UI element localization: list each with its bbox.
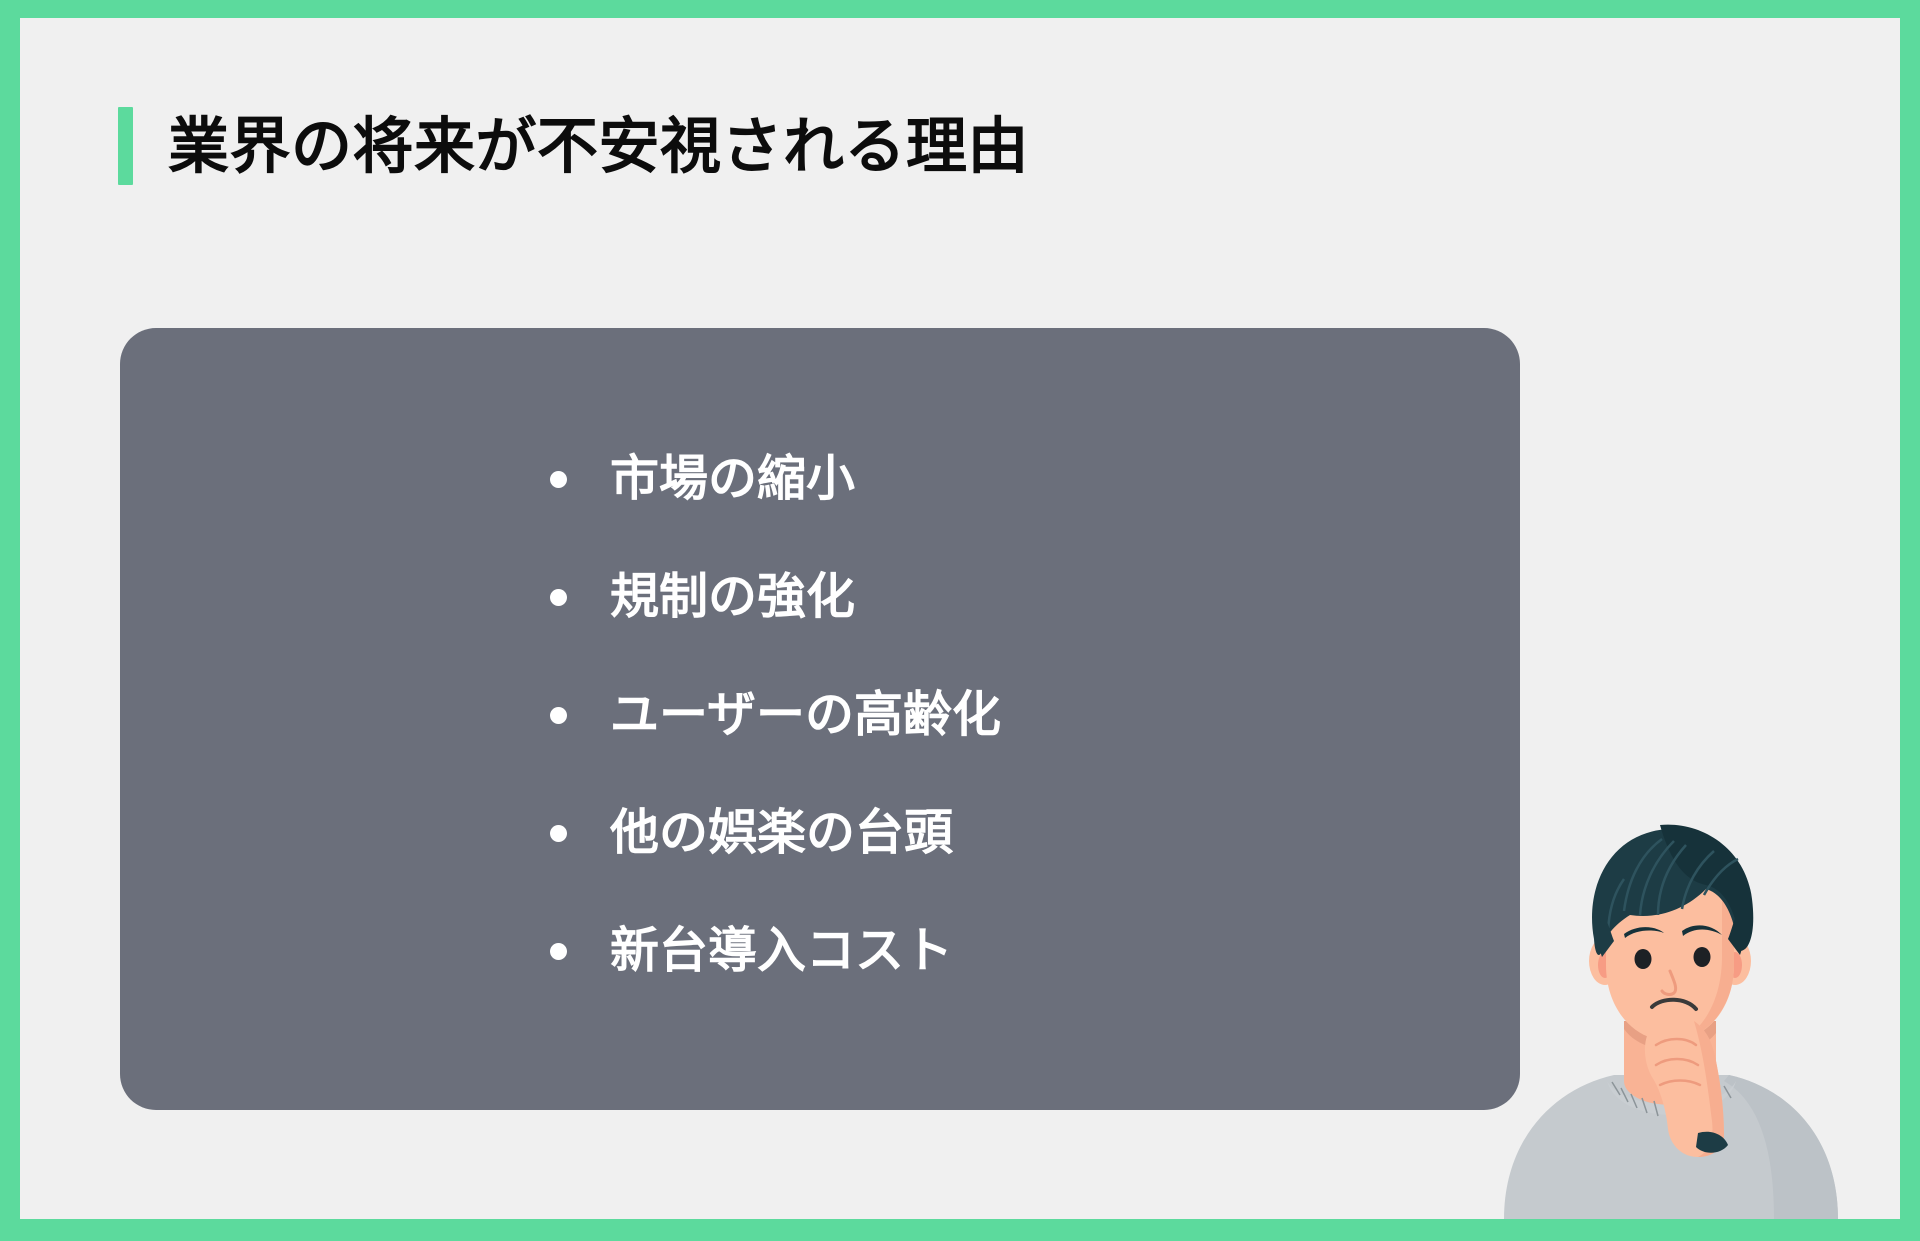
content-panel: 市場の縮小 規制の強化 ユーザーの高齢化 他の娯楽の台頭 新台導入コスト xyxy=(120,328,1520,1110)
page-title: 業界の将来が不安視される理由 xyxy=(118,100,1029,192)
bullet-dot-icon xyxy=(550,589,567,606)
bullet-dot-icon xyxy=(550,707,567,724)
list-item: 他の娯楽の台頭 xyxy=(550,774,1001,892)
list-item-label: ユーザーの高齢化 xyxy=(610,691,1001,740)
left-eye xyxy=(1635,949,1652,969)
list-item-label: 規制の強化 xyxy=(610,573,855,622)
list-item: 市場の縮小 xyxy=(550,420,1001,538)
slide-canvas: 業界の将来が不安視される理由 市場の縮小 規制の強化 ユーザーの高齢化 xyxy=(20,18,1900,1219)
list-item: ユーザーの高齢化 xyxy=(550,656,1001,774)
list-item: 規制の強化 xyxy=(550,538,1001,656)
thinking-man-illustration xyxy=(1474,789,1864,1219)
list-item-label: 新台導入コスト xyxy=(610,927,953,976)
title-accent-bar xyxy=(118,107,133,185)
bullet-dot-icon xyxy=(550,825,567,842)
bullet-dot-icon xyxy=(550,943,567,960)
list-item-label: 市場の縮小 xyxy=(610,455,855,504)
right-eye xyxy=(1694,947,1711,967)
slide-root: 業界の将来が不安視される理由 市場の縮小 規制の強化 ユーザーの高齢化 xyxy=(0,0,1920,1241)
bullet-dot-icon xyxy=(550,471,567,488)
reason-bullet-list: 市場の縮小 規制の強化 ユーザーの高齢化 他の娯楽の台頭 新台導入コスト xyxy=(550,420,1001,1010)
title-label: 業界の将来が不安視される理由 xyxy=(168,116,1029,177)
list-item: 新台導入コスト xyxy=(550,892,1001,1010)
list-item-label: 他の娯楽の台頭 xyxy=(610,809,953,858)
